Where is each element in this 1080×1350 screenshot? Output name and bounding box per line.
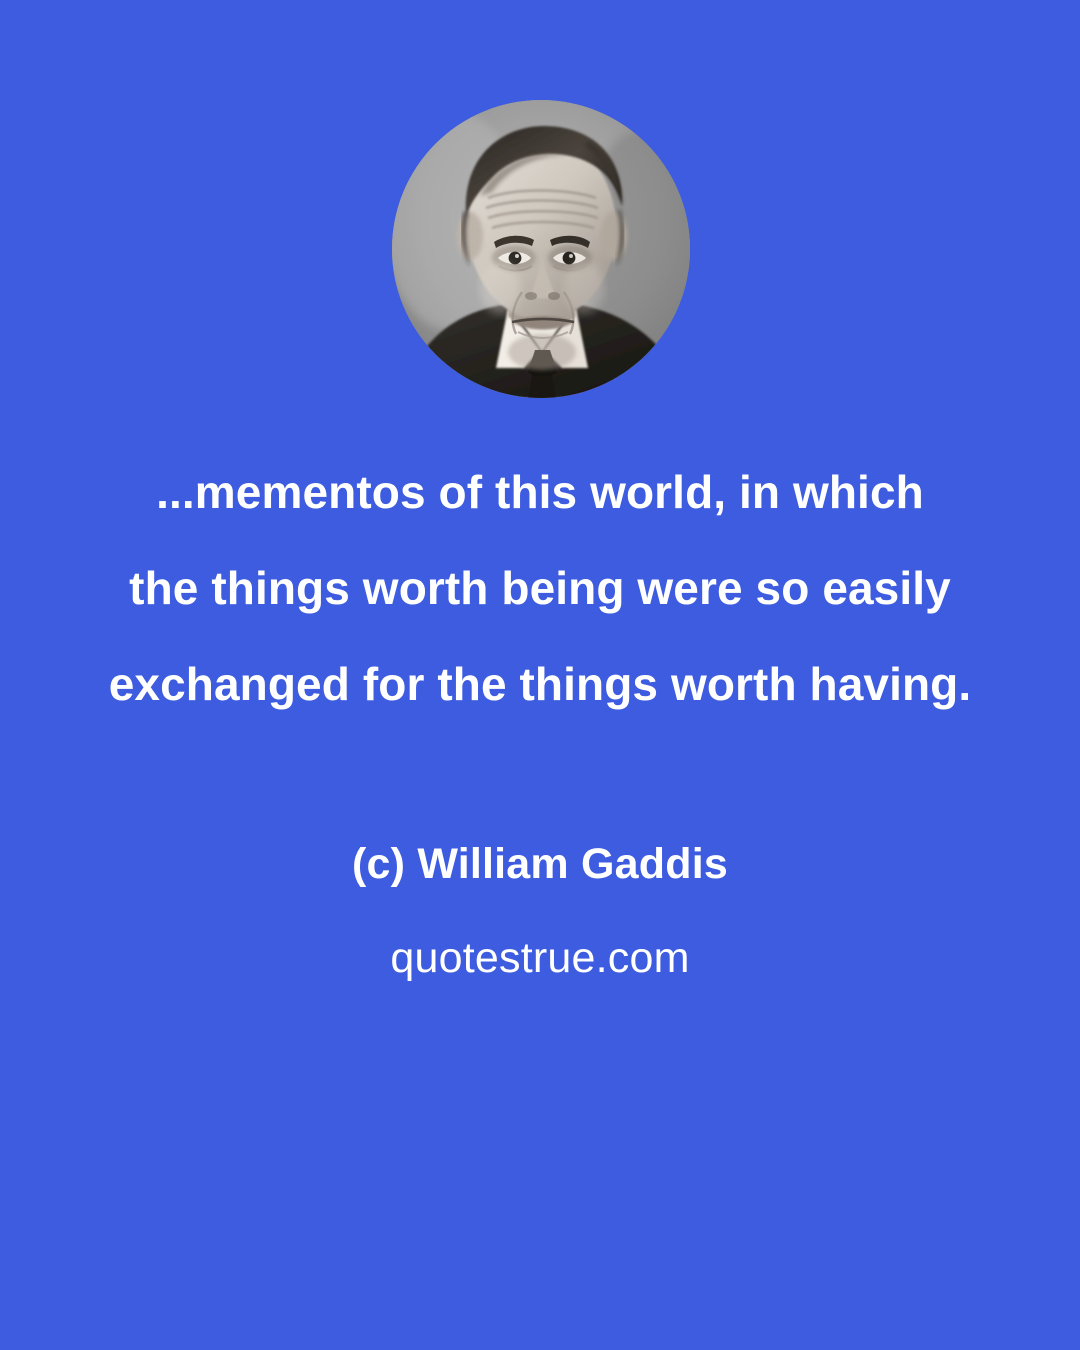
site-name: quotestrue.com xyxy=(0,930,1080,986)
quote-text: ...mementos of this world, in which the … xyxy=(0,444,1080,732)
author-portrait xyxy=(392,100,690,398)
quote-line-1: ...mementos of this world, in which xyxy=(60,444,1020,540)
quote-line-2: the things worth being were so easily xyxy=(60,540,1020,636)
quote-card: ...mementos of this world, in which the … xyxy=(0,0,1080,1350)
author-name: (c) William Gaddis xyxy=(0,836,1080,892)
author-portrait-photo xyxy=(392,100,690,398)
attribution: (c) William Gaddis quotestrue.com xyxy=(0,836,1080,986)
quote-line-3: exchanged for the things worth having. xyxy=(60,636,1020,732)
